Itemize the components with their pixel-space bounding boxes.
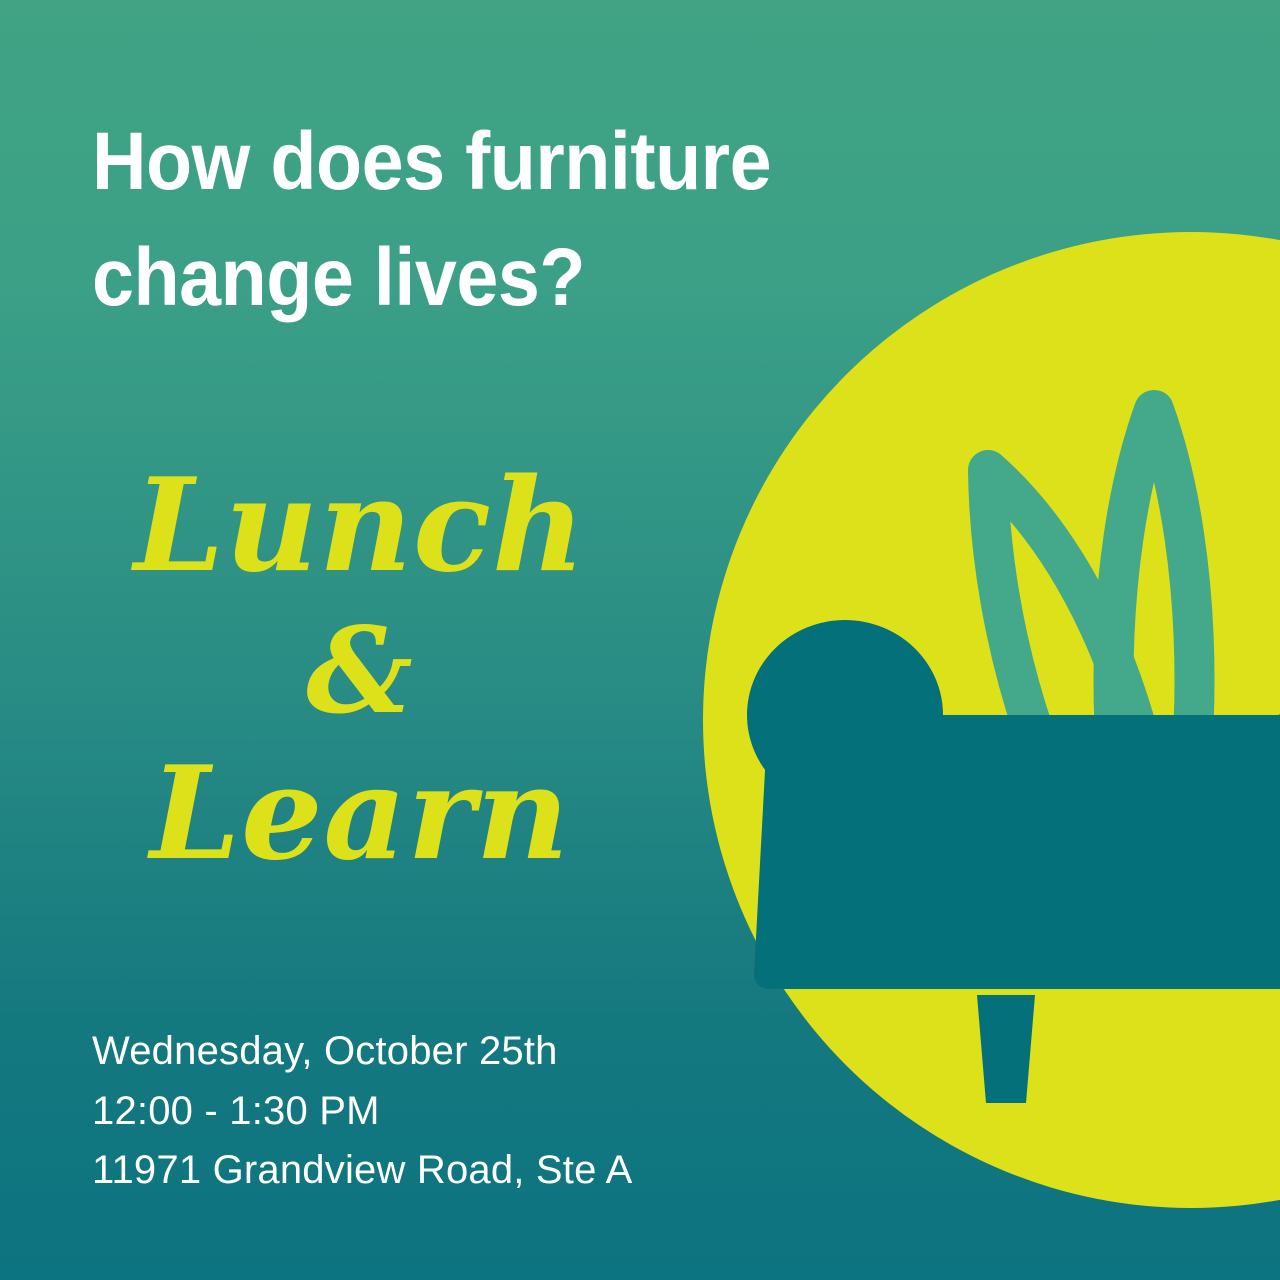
- plant-pot-shape: [1116, 821, 1280, 989]
- event-title-ampersand: &: [80, 602, 640, 740]
- event-title: Lunch & Learn: [80, 452, 640, 890]
- event-time: 12:00 - 1:30 PM: [92, 1082, 633, 1142]
- plant-leaves-icon: [790, 410, 1280, 958]
- event-title-line-3: Learn: [80, 740, 640, 890]
- page-title: How does furniture change lives?: [92, 104, 920, 337]
- sofa-icon: [747, 620, 1280, 1103]
- event-flyer: How does furniture change lives? Lunch &…: [0, 0, 1280, 1280]
- event-title-line-1: Lunch: [80, 452, 640, 602]
- event-address: 11971 Grandview Road, Ste A: [92, 1141, 633, 1201]
- yellow-green-circle: [703, 232, 1280, 1208]
- event-date: Wednesday, October 25th: [92, 1022, 633, 1082]
- event-details: Wednesday, October 25th 12:00 - 1:30 PM …: [92, 1022, 633, 1201]
